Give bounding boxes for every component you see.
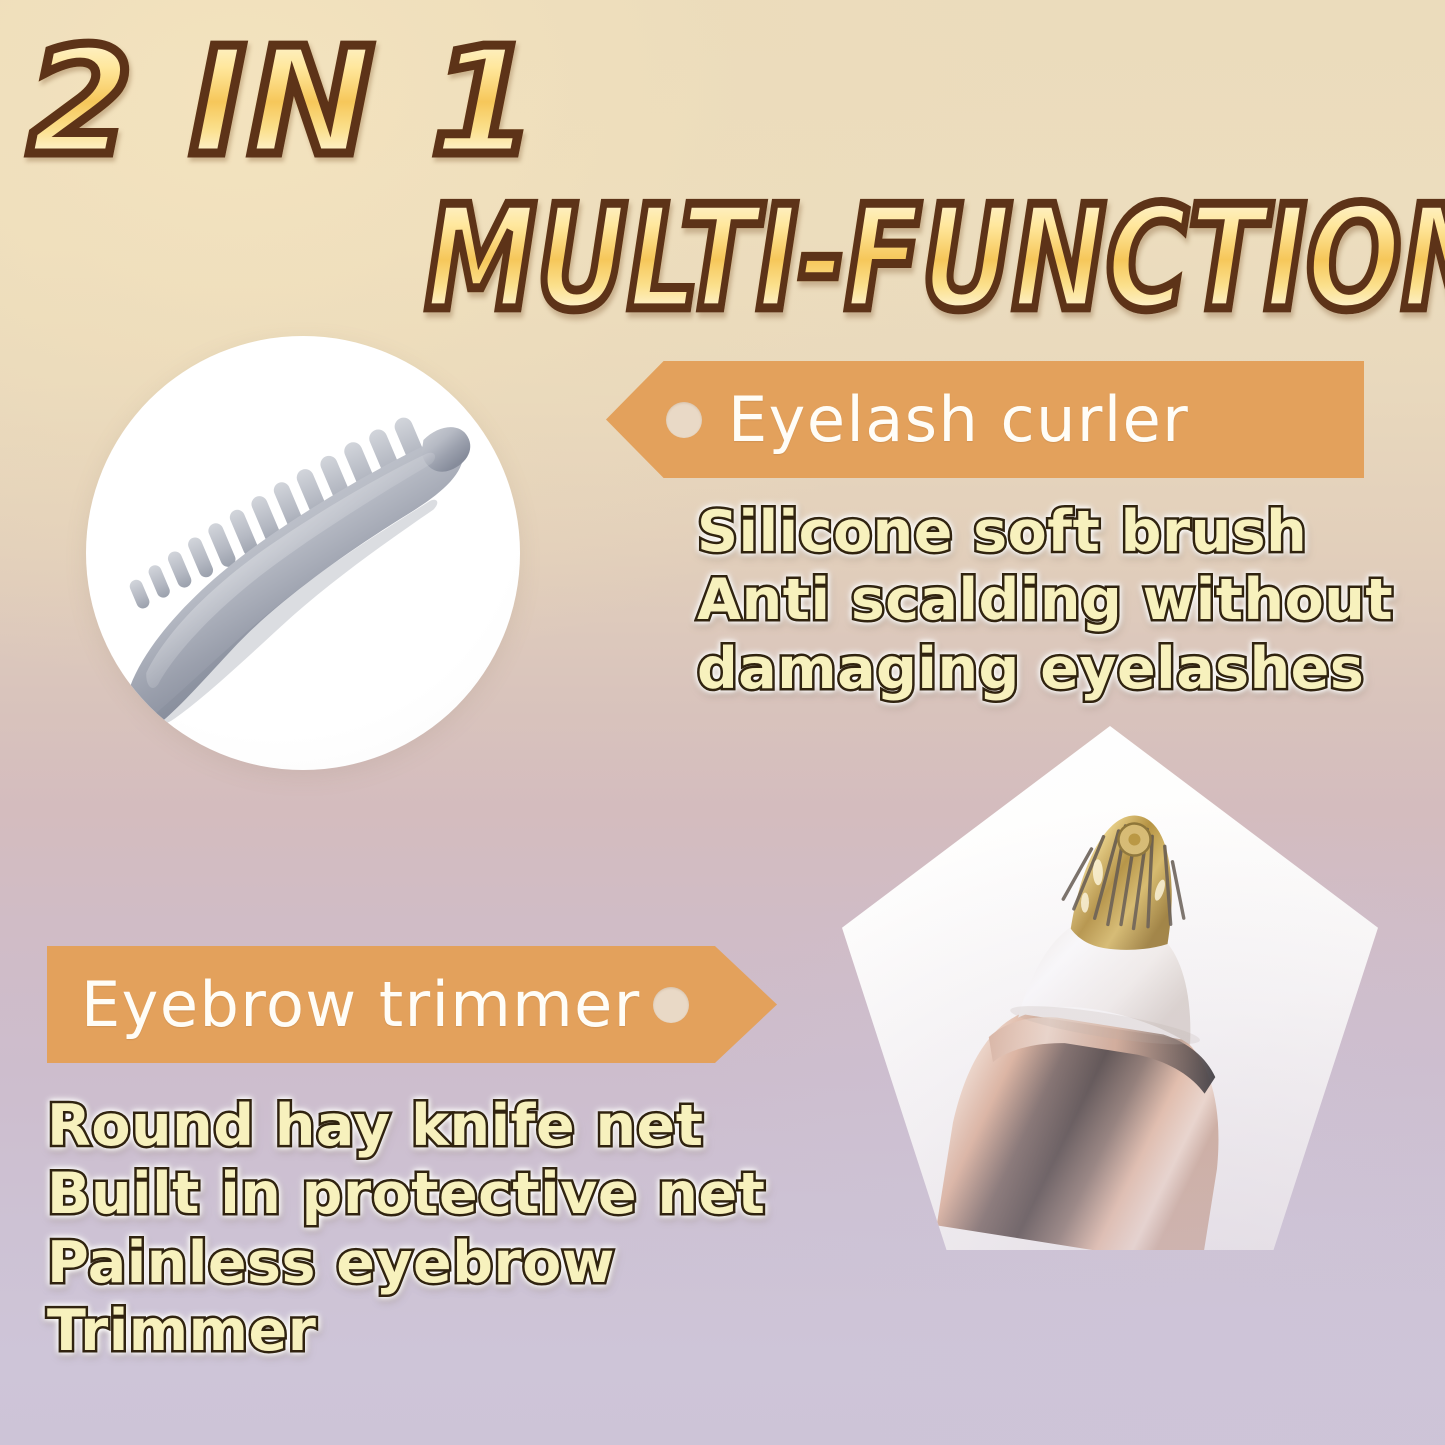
headline-multi-function: MULTI-FUNCTION (425, 176, 1445, 342)
product-infographic-poster: 2 IN 1 MULTI-FUNCTION (0, 0, 1445, 1445)
tag-eyelash-curler: Eyelash curler (606, 361, 1364, 478)
eyelash-curler-product-photo (86, 336, 520, 770)
tag-eyelash-curler-label: Eyelash curler (728, 389, 1189, 451)
eyebrow-trimmer-description: Round hay knife net Built in protective … (47, 1092, 783, 1366)
silicone-brush-icon (86, 336, 520, 770)
tag-eyebrow-trimmer: Eyebrow trimmer (47, 946, 777, 1063)
eyelash-curler-description: Silicone soft brush Anti scalding withou… (697, 498, 1423, 703)
trimmer-head-icon (842, 726, 1378, 1250)
tag-eyebrow-trimmer-label: Eyebrow trimmer (81, 974, 641, 1036)
headline-2-in-1: 2 IN 1 (28, 16, 538, 188)
eyebrow-trimmer-product-photo (842, 726, 1378, 1250)
tag-hole-icon (653, 987, 689, 1023)
tag-hole-icon (666, 402, 702, 438)
